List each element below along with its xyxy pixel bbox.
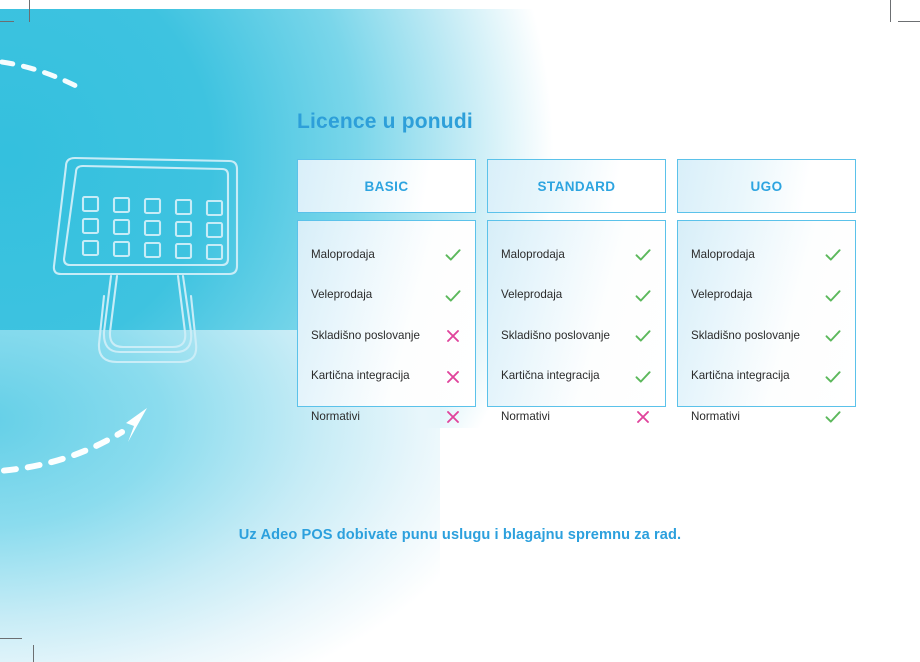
license-cards: BASIC Maloprodaja Veleprodaja Skladišno … bbox=[297, 159, 856, 407]
check-icon bbox=[824, 327, 842, 345]
feature-row: Skladišno poslovanje bbox=[691, 316, 842, 357]
check-icon bbox=[444, 246, 462, 264]
check-icon bbox=[824, 246, 842, 264]
feature-label: Normativi bbox=[311, 411, 360, 424]
slide-page: Licence u ponudi BASIC Maloprodaja Velep… bbox=[0, 0, 920, 662]
check-icon bbox=[824, 287, 842, 305]
license-card-body: Maloprodaja Veleprodaja Skladišno poslov… bbox=[677, 220, 856, 407]
check-icon bbox=[634, 327, 652, 345]
feature-row: Skladišno poslovanje bbox=[501, 316, 652, 357]
feature-label: Kartična integracija bbox=[691, 370, 790, 383]
license-card-header: STANDARD bbox=[487, 159, 666, 213]
license-card-title: BASIC bbox=[364, 179, 408, 194]
feature-label: Skladišno poslovanje bbox=[311, 330, 420, 343]
feature-row: Maloprodaja bbox=[691, 235, 842, 276]
feature-row: Kartična integracija bbox=[311, 357, 462, 398]
feature-label: Veleprodaja bbox=[691, 289, 752, 302]
feature-row: Normativi bbox=[501, 397, 652, 438]
license-card-ugo[interactable]: UGO Maloprodaja Veleprodaja Skladišno po… bbox=[677, 159, 856, 407]
feature-row: Normativi bbox=[311, 397, 462, 438]
cross-icon bbox=[444, 408, 462, 426]
feature-row: Maloprodaja bbox=[311, 235, 462, 276]
license-card-body: Maloprodaja Veleprodaja Skladišno poslov… bbox=[297, 220, 476, 407]
check-icon bbox=[824, 408, 842, 426]
feature-row: Kartična integracija bbox=[691, 357, 842, 398]
license-card-basic[interactable]: BASIC Maloprodaja Veleprodaja Skladišno … bbox=[297, 159, 476, 407]
feature-row: Skladišno poslovanje bbox=[311, 316, 462, 357]
feature-label: Maloprodaja bbox=[691, 249, 755, 262]
feature-label: Veleprodaja bbox=[501, 289, 562, 302]
feature-label: Maloprodaja bbox=[311, 249, 375, 262]
feature-label: Normativi bbox=[691, 411, 740, 424]
feature-label: Veleprodaja bbox=[311, 289, 372, 302]
license-card-title: STANDARD bbox=[538, 179, 616, 194]
feature-row: Maloprodaja bbox=[501, 235, 652, 276]
feature-label: Kartična integracija bbox=[311, 370, 410, 383]
feature-row: Veleprodaja bbox=[691, 276, 842, 317]
license-card-header: BASIC bbox=[297, 159, 476, 213]
feature-row: Veleprodaja bbox=[311, 276, 462, 317]
tagline: Uz Adeo POS dobivate punu uslugu i blaga… bbox=[0, 527, 920, 543]
check-icon bbox=[824, 368, 842, 386]
cross-icon bbox=[634, 408, 652, 426]
cross-icon bbox=[444, 368, 462, 386]
license-card-standard[interactable]: STANDARD Maloprodaja Veleprodaja Skladiš… bbox=[487, 159, 666, 407]
feature-label: Skladišno poslovanje bbox=[501, 330, 610, 343]
slide-content: Licence u ponudi BASIC Maloprodaja Velep… bbox=[0, 0, 920, 662]
check-icon bbox=[634, 368, 652, 386]
license-card-title: UGO bbox=[751, 179, 783, 194]
check-icon bbox=[444, 287, 462, 305]
feature-label: Skladišno poslovanje bbox=[691, 330, 800, 343]
license-card-header: UGO bbox=[677, 159, 856, 213]
license-card-body: Maloprodaja Veleprodaja Skladišno poslov… bbox=[487, 220, 666, 407]
feature-label: Maloprodaja bbox=[501, 249, 565, 262]
feature-label: Normativi bbox=[501, 411, 550, 424]
feature-row: Kartična integracija bbox=[501, 357, 652, 398]
cross-icon bbox=[444, 327, 462, 345]
check-icon bbox=[634, 287, 652, 305]
feature-label: Kartična integracija bbox=[501, 370, 600, 383]
page-title: Licence u ponudi bbox=[297, 110, 473, 134]
check-icon bbox=[634, 246, 652, 264]
feature-row: Veleprodaja bbox=[501, 276, 652, 317]
feature-row: Normativi bbox=[691, 397, 842, 438]
